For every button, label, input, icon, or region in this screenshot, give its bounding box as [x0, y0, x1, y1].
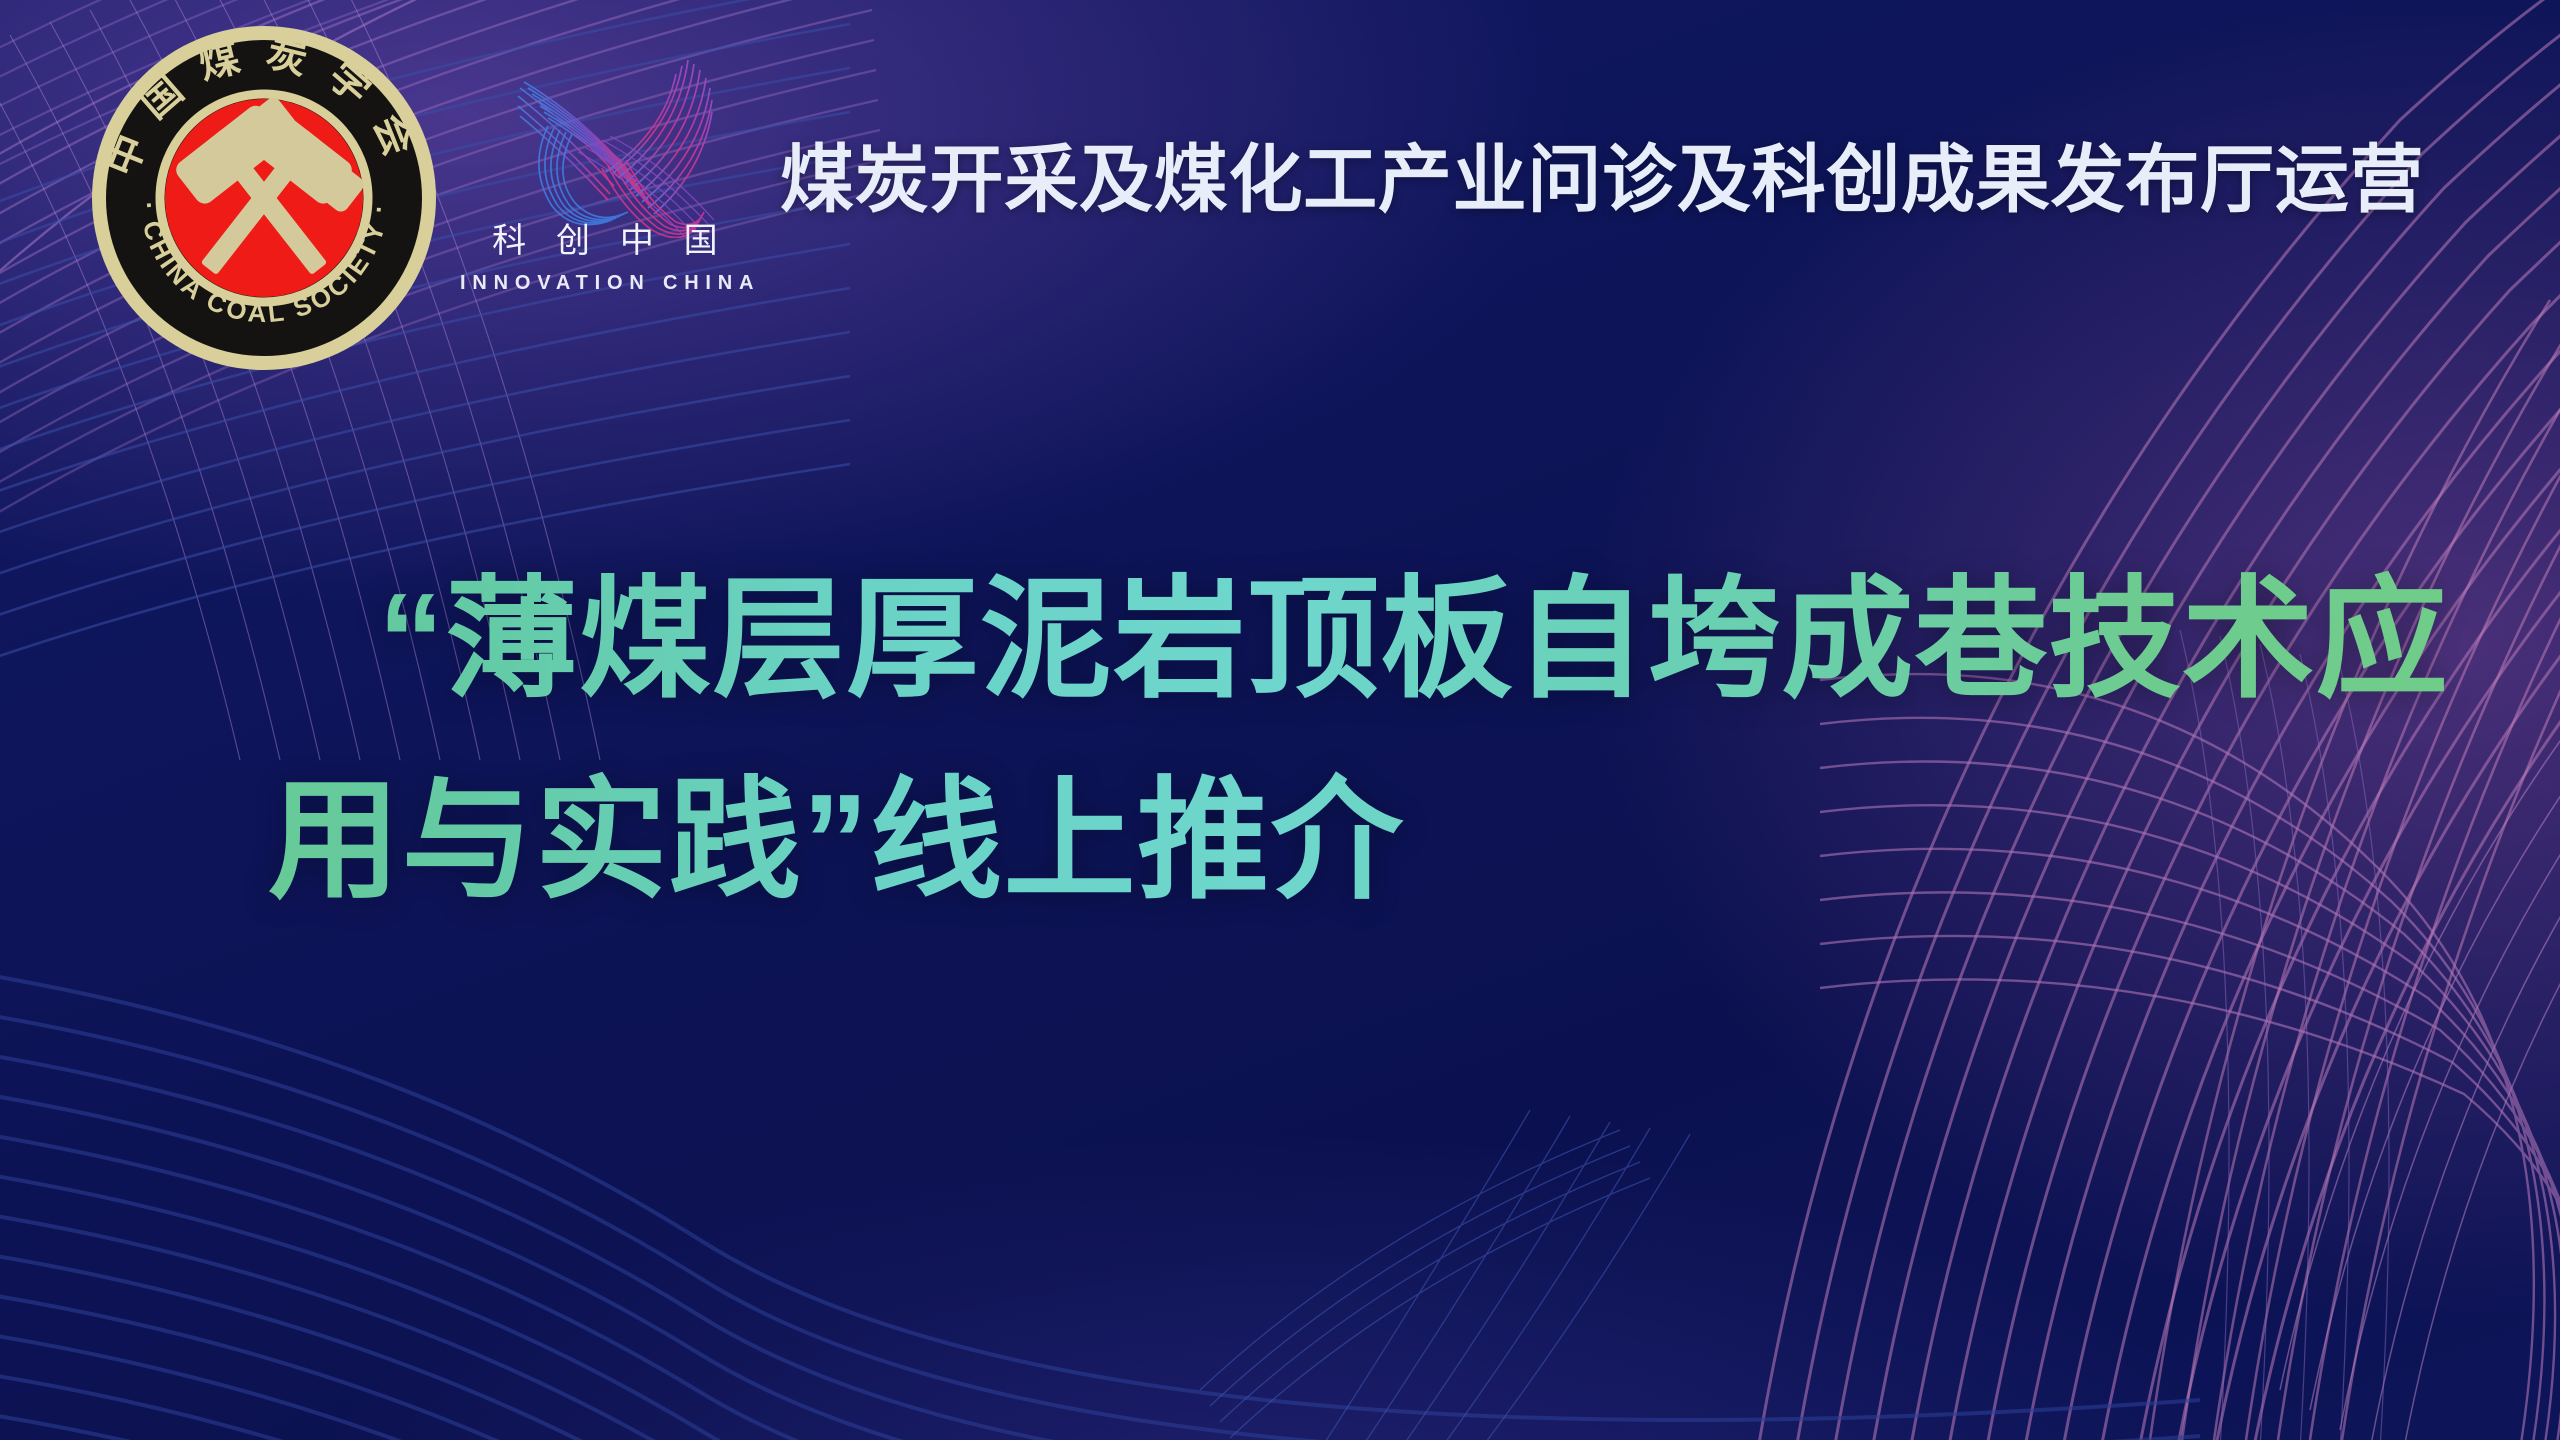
- main-title-block: “薄煤层厚泥岩顶板自垮成巷技术应 用与实践”线上推介: [0, 540, 2560, 941]
- innovation-china-mark: [452, 48, 772, 238]
- main-title-line-1: “薄煤层厚泥岩顶板自垮成巷技术应: [0, 540, 2560, 741]
- innovation-china-logo: 科 创 中 国 INNOVATION CHINA: [452, 48, 772, 318]
- china-coal-society-seal: 中国煤炭学会 · CHINA COAL SOCIETY ·: [88, 22, 440, 374]
- innovation-china-english-label: INNOVATION CHINA: [460, 273, 760, 293]
- arc-pattern-mesh-bottom: [1200, 1090, 1820, 1440]
- innovation-china-chinese-label: 科 创 中 国: [460, 224, 760, 258]
- main-title-line-2: 用与实践”线上推介: [0, 741, 2560, 942]
- header-title: 煤炭开采及煤化工产业问诊及科创成果发布厅运营: [780, 140, 2460, 220]
- banner-slide: 中国煤炭学会 · CHINA COAL SOCIETY ·: [0, 0, 2560, 1440]
- banner-header: 中国煤炭学会 · CHINA COAL SOCIETY ·: [0, 0, 2560, 330]
